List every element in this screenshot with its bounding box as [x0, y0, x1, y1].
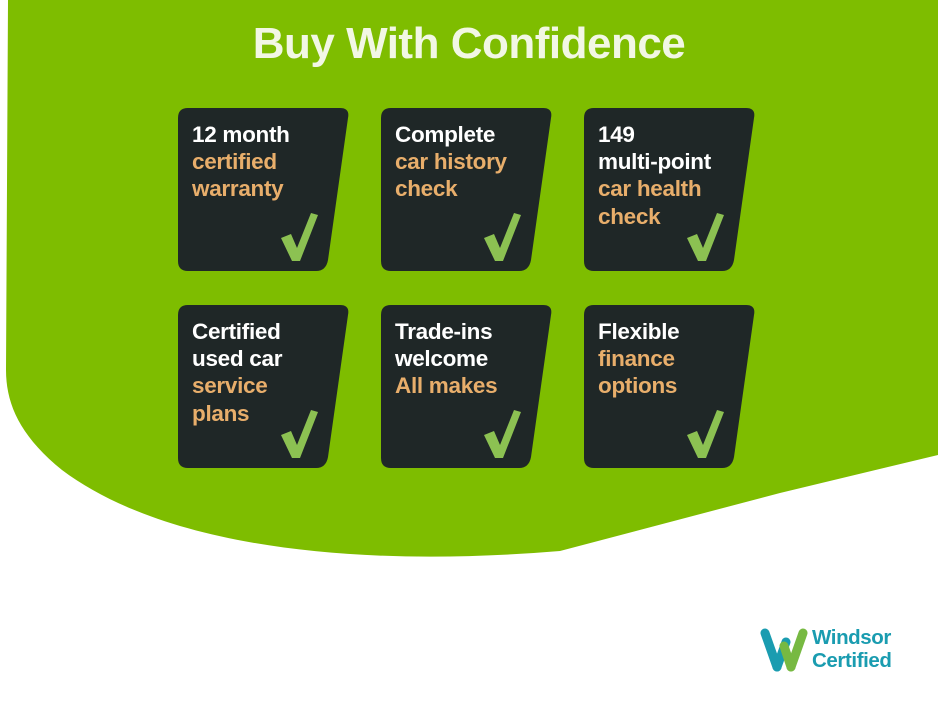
- card-line: check: [395, 175, 545, 202]
- feature-card-row-1: 12 month certified warranty Complete car…: [178, 108, 758, 271]
- feature-card-trade-ins-welcome-all-makes[interactable]: Trade-ins welcome All makes: [381, 305, 553, 468]
- card-line: welcome: [395, 345, 545, 372]
- feature-card-12-month-certified-warranty[interactable]: 12 month certified warranty: [178, 108, 350, 271]
- card-line: car health: [598, 175, 748, 202]
- feature-card-grid: 12 month certified warranty Complete car…: [178, 108, 758, 468]
- card-text-block: Trade-ins welcome All makes: [395, 318, 545, 400]
- card-line: Certified: [192, 318, 342, 345]
- card-line: used car: [192, 345, 342, 372]
- logo-line-2: Certified: [812, 649, 927, 672]
- card-line: 12 month: [192, 121, 342, 148]
- check-icon: [278, 211, 320, 263]
- windsor-w-icon: [760, 628, 808, 672]
- card-text-block: Complete car history check: [395, 121, 545, 203]
- feature-card-row-2: Certified used car service plans Trade-i…: [178, 305, 758, 468]
- card-text-block: 12 month certified warranty: [192, 121, 342, 203]
- page-title: Buy With Confidence: [0, 18, 938, 71]
- feature-card-149-multi-point-car-health-check[interactable]: 149 multi-point car health check: [584, 108, 756, 271]
- feature-card-flexible-finance-options[interactable]: Flexible finance options: [584, 305, 756, 468]
- card-line: car history: [395, 148, 545, 175]
- check-icon: [481, 211, 523, 263]
- check-icon: [684, 408, 726, 460]
- card-line: service: [192, 372, 342, 399]
- card-line: Complete: [395, 121, 545, 148]
- check-icon: [481, 408, 523, 460]
- check-icon: [278, 408, 320, 460]
- card-line: All makes: [395, 372, 545, 399]
- feature-card-complete-car-history-check[interactable]: Complete car history check: [381, 108, 553, 271]
- poster-canvas: Buy With Confidence 12 month certified w…: [0, 0, 938, 704]
- check-icon: [684, 211, 726, 263]
- logo-line-1: Windsor: [812, 626, 891, 649]
- card-line: certified: [192, 148, 342, 175]
- card-line: Trade-ins: [395, 318, 545, 345]
- card-line: multi-point: [598, 148, 748, 175]
- card-line: 149: [598, 121, 748, 148]
- card-line: Flexible: [598, 318, 748, 345]
- card-line: warranty: [192, 175, 342, 202]
- feature-card-certified-used-car-service-plans[interactable]: Certified used car service plans: [178, 305, 350, 468]
- logo-wordmark: Windsor Certified: [812, 626, 927, 672]
- card-text-block: Flexible finance options: [598, 318, 748, 400]
- windsor-certified-logo[interactable]: Windsor Certified: [760, 626, 925, 682]
- card-line: options: [598, 372, 748, 399]
- card-line: finance: [598, 345, 748, 372]
